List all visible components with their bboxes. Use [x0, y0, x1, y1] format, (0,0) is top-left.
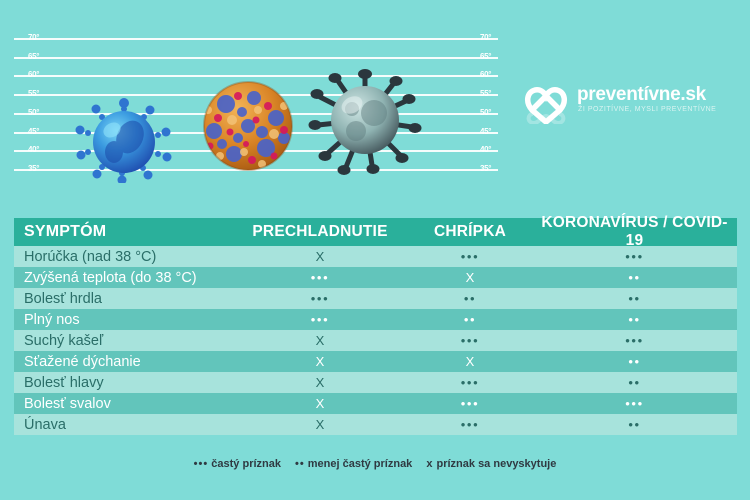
cell-flu-value: •••	[408, 246, 532, 267]
cell-flu-value: ••	[408, 309, 532, 330]
legend-text-frequent: častý príznak	[211, 458, 281, 470]
legend-symbol-less-frequent: ••	[295, 458, 305, 470]
cell-flu-value: •••	[408, 414, 532, 435]
scale-label-left: 35°	[28, 165, 39, 173]
scale-label-right: 40°	[480, 146, 491, 154]
table-row: Bolesť hlavyX•••••	[14, 372, 737, 393]
cell-symptom-name: Sťažené dýchanie	[14, 354, 232, 370]
scale-label-right: 55°	[480, 90, 491, 98]
scale-label-right: 45°	[480, 128, 491, 136]
scale-label-right: 60°	[480, 71, 491, 79]
severity-marker: X	[316, 351, 325, 372]
cell-symptom-name: Suchý kašeľ	[14, 333, 232, 349]
column-header-symptom: SYMPTÓM	[14, 223, 232, 241]
cell-flu-value: •••	[408, 393, 532, 414]
severity-marker: ••	[628, 372, 640, 393]
cell-covid-value: ••	[532, 267, 737, 288]
common-cold-virus-illustration	[72, 97, 176, 183]
cell-flu-value: •••	[408, 330, 532, 351]
severity-marker: ••	[628, 414, 640, 435]
table-row: Bolesť svalovX••••••	[14, 393, 737, 414]
scale-label-left: 65°	[28, 53, 39, 61]
legend-item-less-frequent: •• menej častý príznak	[295, 458, 412, 470]
cell-cold-value: •••	[232, 288, 408, 309]
column-header-flu: CHRÍPKA	[408, 223, 532, 241]
severity-marker: •••	[625, 393, 643, 414]
severity-marker: X	[466, 267, 475, 288]
table-row: ÚnavaX•••••	[14, 414, 737, 435]
cell-symptom-name: Bolesť hlavy	[14, 375, 232, 391]
severity-marker: ••	[628, 351, 640, 372]
table-row: Sťažené dýchanieXX••	[14, 351, 737, 372]
severity-marker: ••	[464, 309, 476, 330]
cell-symptom-name: Únava	[14, 417, 232, 433]
table-row: Plný nos•••••••	[14, 309, 737, 330]
severity-marker: ••	[628, 309, 640, 330]
cell-cold-value: X	[232, 246, 408, 267]
coronavirus-illustration	[306, 61, 424, 179]
table-row: Suchý kašeľX••••••	[14, 330, 737, 351]
scale-label-left: 40°	[28, 146, 39, 154]
scale-label-left: 45°	[28, 128, 39, 136]
legend-text-absent: príznak sa nevyskytuje	[437, 458, 557, 470]
severity-marker: X	[316, 246, 325, 267]
cell-cold-value: X	[232, 372, 408, 393]
cell-covid-value: ••	[532, 372, 737, 393]
cell-flu-value: •••	[408, 372, 532, 393]
cell-covid-value: ••	[532, 351, 737, 372]
logo-wordmark: preventívne.sk	[577, 84, 706, 106]
cell-flu-value: ••	[408, 288, 532, 309]
severity-marker: •••	[461, 414, 479, 435]
severity-marker: •••	[461, 393, 479, 414]
cell-flu-value: X	[408, 267, 532, 288]
legend-item-absent: x príznak sa nevyskytuje	[426, 458, 556, 470]
severity-marker: •••	[625, 246, 643, 267]
cell-symptom-name: Bolesť hrdla	[14, 291, 232, 307]
scale-label-right: 35°	[480, 165, 491, 173]
severity-marker: ••	[628, 288, 640, 309]
severity-marker: •••	[311, 288, 329, 309]
cell-covid-value: •••	[532, 246, 737, 267]
cell-symptom-name: Plný nos	[14, 312, 232, 328]
cell-cold-value: •••	[232, 309, 408, 330]
cell-cold-value: X	[232, 330, 408, 351]
scale-label-left: 55°	[28, 90, 39, 98]
severity-marker: •••	[625, 330, 643, 351]
scale-gridline	[14, 57, 498, 59]
severity-marker: X	[316, 330, 325, 351]
legend-symbol-frequent: •••	[194, 458, 209, 470]
severity-marker: •••	[461, 372, 479, 393]
severity-marker: •••	[461, 246, 479, 267]
severity-marker: ••	[628, 267, 640, 288]
brand-logo[interactable]: preventívne.sk ŽI POZITÍVNE, MYSLI PREVE…	[524, 78, 724, 128]
column-header-covid: KORONAVÍRUS / COVID- 19	[532, 214, 737, 250]
column-header-cold: PRECHLADNUTIE	[232, 223, 408, 241]
scale-label-left: 50°	[28, 109, 39, 117]
table-row: Zvýšená teplota (do 38 °C)•••X••	[14, 267, 737, 288]
legend-text-less-frequent: menej častý príznak	[308, 458, 413, 470]
cell-cold-value: X	[232, 393, 408, 414]
cell-cold-value: •••	[232, 267, 408, 288]
scale-label-right: 65°	[480, 53, 491, 61]
table-header-row: SYMPTÓM PRECHLADNUTIE CHRÍPKA KORONAVÍRU…	[14, 218, 737, 246]
severity-marker: •••	[311, 309, 329, 330]
scale-label-right: 50°	[480, 109, 491, 117]
cell-symptom-name: Horúčka (nad 38 °C)	[14, 249, 232, 265]
severity-marker: X	[466, 351, 475, 372]
severity-marker: X	[316, 372, 325, 393]
scale-gridline	[14, 38, 498, 40]
cell-covid-value: ••	[532, 414, 737, 435]
cell-covid-value: ••	[532, 288, 737, 309]
table-row: Horúčka (nad 38 °C)X••••••	[14, 246, 737, 267]
cell-flu-value: X	[408, 351, 532, 372]
heart-infinity-icon	[524, 80, 568, 124]
cell-symptom-name: Zvýšená teplota (do 38 °C)	[14, 270, 232, 286]
severity-marker: X	[316, 393, 325, 414]
logo-tagline: ŽI POZITÍVNE, MYSLI PREVENTÍVNE	[578, 106, 716, 113]
cell-covid-value: ••	[532, 309, 737, 330]
cell-covid-value: •••	[532, 330, 737, 351]
cell-cold-value: X	[232, 351, 408, 372]
legend-item-frequent: ••• častý príznak	[194, 458, 281, 470]
symptom-comparison-table: SYMPTÓM PRECHLADNUTIE CHRÍPKA KORONAVÍRU…	[14, 218, 737, 435]
table-row: Bolesť hrdla•••••••	[14, 288, 737, 309]
legend-symbol-absent: x	[426, 458, 433, 470]
scale-label-left: 70°	[28, 34, 39, 42]
severity-marker: ••	[464, 288, 476, 309]
scale-label-right: 70°	[480, 34, 491, 42]
scale-label-left: 60°	[28, 71, 39, 79]
influenza-virus-illustration	[196, 76, 300, 176]
table-body: Horúčka (nad 38 °C)X••••••Zvýšená teplot…	[14, 246, 737, 435]
severity-marker: •••	[311, 267, 329, 288]
severity-marker: X	[316, 414, 325, 435]
cell-symptom-name: Bolesť svalov	[14, 396, 232, 412]
severity-marker: •••	[461, 330, 479, 351]
cell-covid-value: •••	[532, 393, 737, 414]
cell-cold-value: X	[232, 414, 408, 435]
legend: ••• častý príznak•• menej častý príznakx…	[0, 458, 750, 470]
